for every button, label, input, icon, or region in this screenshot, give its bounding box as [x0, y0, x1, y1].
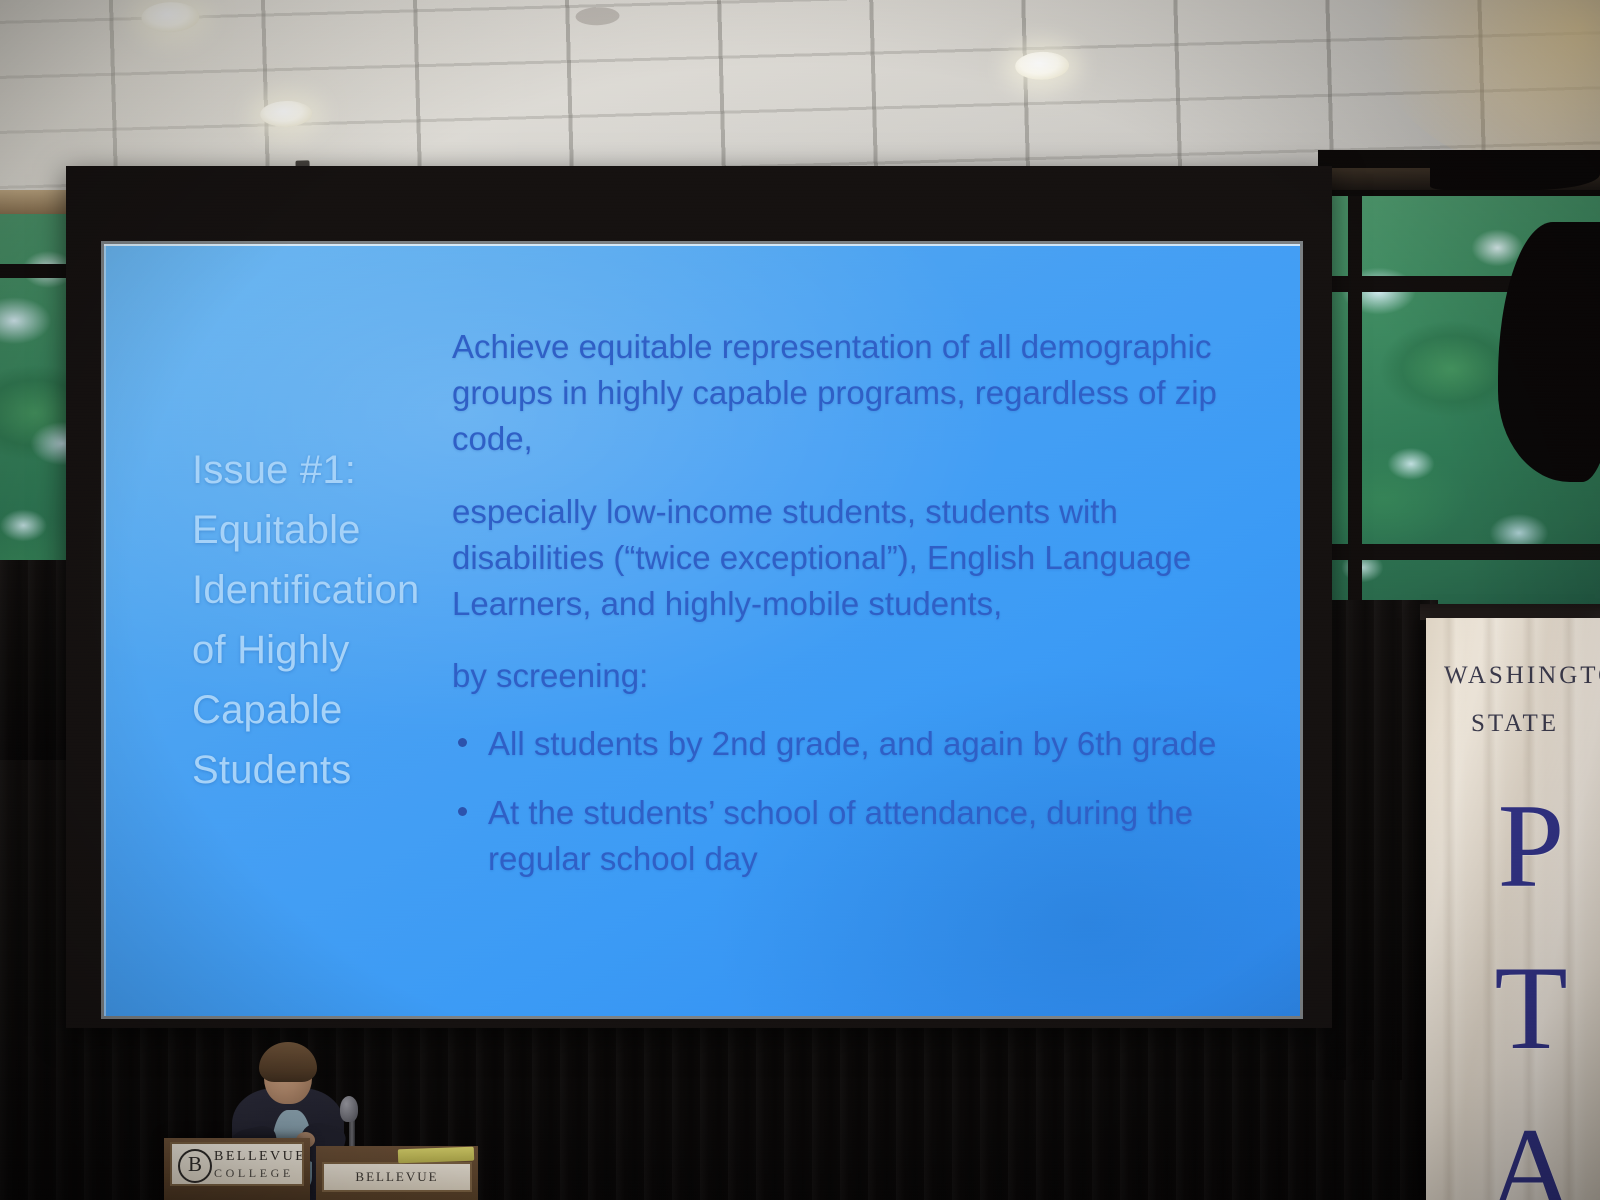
banner-line-2: STATE — [1428, 710, 1600, 738]
corner-shadow — [1430, 150, 1600, 190]
projection-screen: Issue #1: Equitable Identification of Hi… — [104, 244, 1300, 1016]
bullet-dot-icon — [458, 807, 467, 816]
slide-title: Issue #1: Equitable Identification of Hi… — [192, 440, 434, 800]
podium-name-line-1: BELLEVUE — [214, 1148, 304, 1165]
slide-bullet-list: All students by 2nd grade, and again by … — [452, 721, 1266, 882]
slide-body-column: Achieve equitable representation of all … — [434, 244, 1300, 1016]
slide-paragraph-2: especially low-income students, students… — [452, 489, 1266, 628]
bullet-dot-icon — [458, 738, 467, 747]
window-mullion — [1330, 544, 1600, 560]
bullet-text: At the students’ school of attendance, d… — [488, 794, 1193, 877]
right-window-bank — [1330, 196, 1600, 628]
slide-paragraph-3: by screening: — [452, 653, 1266, 699]
banner-letter-t: T — [1444, 948, 1600, 1068]
stage-curtain-upper-right — [1318, 600, 1438, 1080]
podium-name-line-2: COLLEGE — [214, 1165, 304, 1182]
bellevue-college-logo-icon: B — [178, 1149, 212, 1183]
banner-line-1: WASHINGTON — [1444, 662, 1600, 690]
microphone-head-icon — [340, 1096, 358, 1122]
banner-letter-p: P — [1444, 786, 1600, 906]
slide-paragraph-1: Achieve equitable representation of all … — [452, 324, 1266, 463]
list-item: All students by 2nd grade, and again by … — [452, 721, 1266, 767]
list-item: At the students’ school of attendance, d… — [452, 790, 1266, 882]
banner-letter-a: A — [1444, 1110, 1600, 1200]
pta-banner: WASHINGTON STATE P T A — [1426, 618, 1600, 1200]
podium-left-text: BELLEVUE COLLEGE — [214, 1148, 304, 1182]
podium-left-nameplate: B BELLEVUE COLLEGE — [170, 1142, 304, 1186]
conference-room-photo: Issue #1: Equitable Identification of Hi… — [0, 0, 1600, 1200]
window-mullion — [1348, 196, 1362, 628]
bullet-text: All students by 2nd grade, and again by … — [488, 725, 1216, 762]
slide: Issue #1: Equitable Identification of Hi… — [104, 244, 1300, 1016]
podium-right-nameplate: BELLEVUE — [322, 1162, 472, 1192]
slide-title-column: Issue #1: Equitable Identification of Hi… — [104, 244, 434, 1016]
laptop-device — [398, 1147, 474, 1164]
